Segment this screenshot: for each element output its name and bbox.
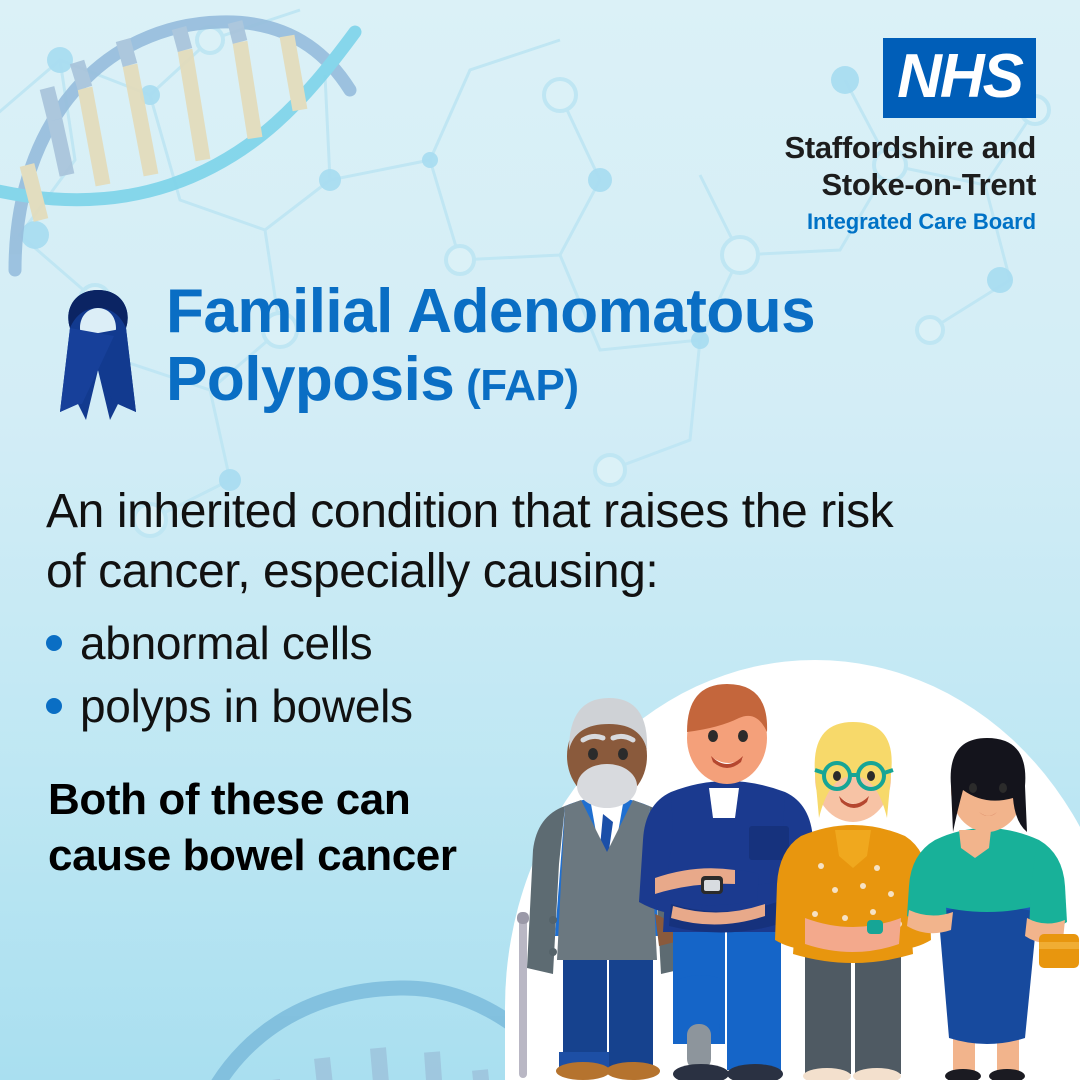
nhs-logo: NHS Staffordshire and Stoke-on-Trent Int… (784, 38, 1036, 235)
people-illustration (505, 628, 1080, 1080)
page-title: Familial Adenomatous Polyposis (FAP) (166, 278, 815, 414)
nhs-wordmark: NHS (883, 38, 1036, 118)
list-item-label: polyps in bowels (80, 675, 413, 738)
bullet-dot-icon (46, 635, 62, 651)
page-title-line-1: Familial Adenomatous (166, 278, 815, 346)
closing-statement: Both of these can cause bowel cancer (48, 772, 568, 885)
closing-line-1: Both of these can (48, 772, 568, 828)
logo-organisation: Staffordshire and Stoke-on-Trent (784, 130, 1036, 203)
bullet-dot-icon (46, 698, 62, 714)
awareness-ribbon-icon (52, 284, 144, 435)
heading-row: Familial Adenomatous Polyposis (FAP) (52, 278, 992, 435)
intro-paragraph: An inherited condition that raises the r… (46, 482, 1036, 603)
fap-awareness-poster: NHS Staffordshire and Stoke-on-Trent Int… (0, 0, 1080, 1080)
figure-woman-with-glasses (775, 722, 931, 1080)
logo-organisation-line-2: Stoke-on-Trent (784, 167, 1036, 204)
intro-line-1: An inherited condition that raises the r… (46, 482, 1036, 542)
dna-helix-top-left-icon (0, 0, 375, 300)
logo-organisation-line-1: Staffordshire and (784, 130, 1036, 167)
page-title-line-2: Polyposis (FAP) (166, 346, 815, 414)
list-item-label: abnormal cells (80, 612, 372, 675)
page-title-main: Polyposis (166, 345, 454, 414)
logo-subtitle: Integrated Care Board (784, 209, 1036, 235)
page-title-abbreviation: (FAP) (454, 361, 578, 410)
figure-woman-with-handbag (907, 738, 1079, 1080)
intro-line-2: of cancer, especially causing: (46, 542, 1036, 602)
closing-line-2: cause bowel cancer (48, 828, 568, 884)
